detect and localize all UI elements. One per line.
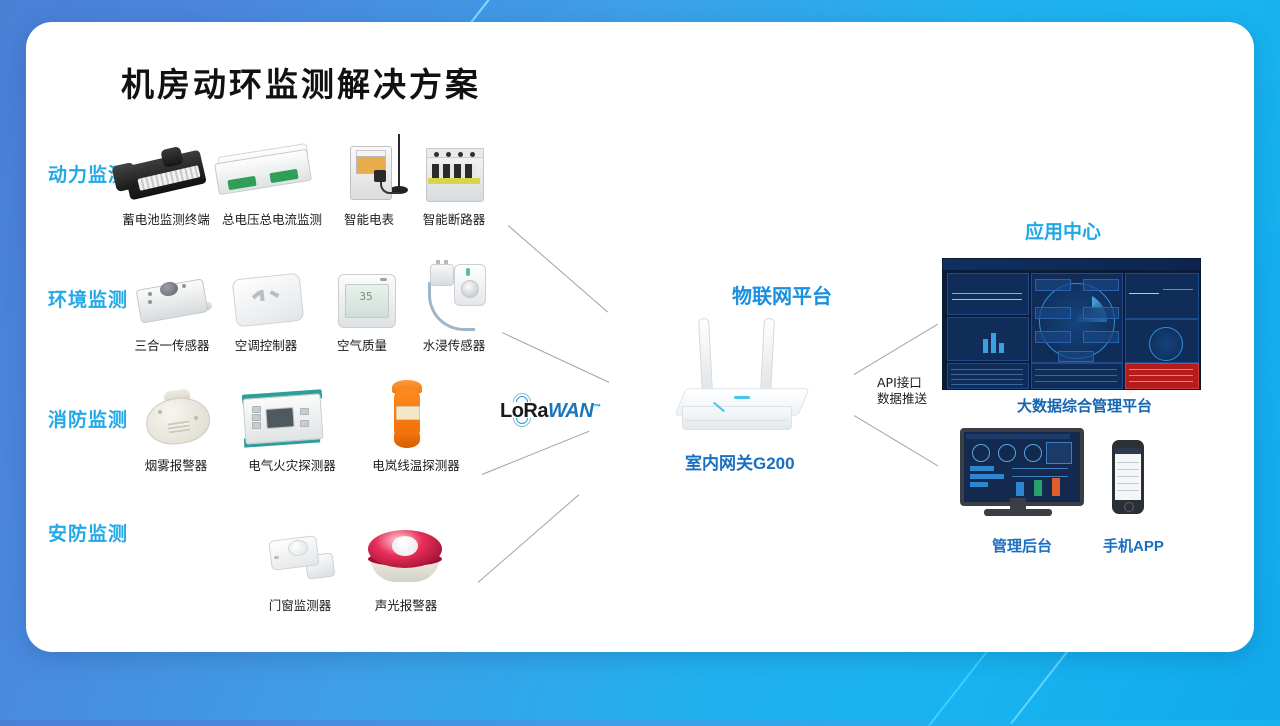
- ac-controller-icon: [218, 262, 314, 338]
- connector-line-security: [478, 494, 580, 583]
- admin-console-caption: 管理后台: [992, 535, 1052, 556]
- smart-breaker-icon: [402, 138, 506, 212]
- device-caption: 蓄电池监测终端: [108, 212, 224, 227]
- smoke-alarm-icon: [124, 382, 228, 458]
- sound-light-alarm-icon: [354, 520, 458, 598]
- device-caption: 三合一传感器: [120, 338, 224, 353]
- device-battery-monitor-terminal[interactable]: 蓄电池监测终端: [108, 138, 224, 227]
- device-caption: 门窗监测器: [248, 598, 352, 613]
- air-quality-value: 35: [352, 290, 380, 303]
- gateway-device-icon: [676, 318, 806, 438]
- device-smart-breaker[interactable]: 智能断路器: [402, 138, 506, 227]
- connector-line-environment: [502, 332, 610, 383]
- smart-meter-icon: [324, 132, 414, 212]
- iot-platform-title: 物联网平台: [732, 280, 832, 309]
- admin-console-monitor-icon[interactable]: [960, 428, 1076, 518]
- three-in-one-sensor-icon: [120, 262, 224, 338]
- device-water-leak-sensor[interactable]: 水浸传感器: [402, 258, 506, 353]
- category-label-environment: 环境监测: [48, 285, 128, 312]
- cable-temperature-detector-icon: [356, 378, 476, 458]
- connector-line-api-dashboard: [854, 324, 939, 376]
- connector-line-api-console: [854, 415, 939, 467]
- device-caption: 智能电表: [324, 212, 414, 227]
- battery-monitor-terminal-icon: [108, 138, 224, 212]
- device-air-quality[interactable]: 35 空气质量: [318, 262, 406, 353]
- device-cable-temperature-detector[interactable]: 电岚线温探测器: [356, 378, 476, 473]
- mobile-app-phone-icon[interactable]: [1112, 440, 1144, 514]
- lorawan-logo: LoRaWAN™: [500, 400, 601, 423]
- device-caption: 声光报警器: [354, 598, 458, 613]
- voltage-current-monitor-icon: [208, 138, 336, 212]
- device-three-in-one-sensor[interactable]: 三合一传感器: [120, 262, 224, 353]
- lorawan-logo-primary: LoRa: [500, 400, 548, 422]
- device-caption: 电气火灾探测器: [230, 458, 354, 473]
- device-caption: 烟雾报警器: [124, 458, 228, 473]
- device-sound-light-alarm[interactable]: 声光报警器: [354, 520, 458, 613]
- connector-line-power: [508, 225, 609, 313]
- big-data-platform-caption: 大数据综合管理平台: [1017, 395, 1152, 416]
- device-smart-meter[interactable]: 智能电表: [324, 132, 414, 227]
- api-label-line-1: API接口: [877, 375, 927, 391]
- decorative-diagonal-line-bottom-2: [1010, 647, 1071, 724]
- device-caption: 空调控制器: [218, 338, 314, 353]
- air-quality-icon: 35: [318, 262, 406, 338]
- device-smoke-alarm[interactable]: 烟雾报警器: [124, 382, 228, 473]
- door-window-sensor-icon: [248, 520, 352, 598]
- solution-card: 机房动环监测解决方案 动力监测 蓄电池监测终端 总电压总电流监测: [26, 22, 1254, 652]
- device-ac-controller[interactable]: 空调控制器: [218, 262, 314, 353]
- lorawan-logo-secondary: WAN: [548, 400, 593, 422]
- api-label-line-2: 数据推送: [877, 391, 927, 407]
- device-caption: 智能断路器: [402, 212, 506, 227]
- category-label-fire: 消防监测: [48, 405, 128, 432]
- device-caption: 总电压总电流监测: [208, 212, 336, 227]
- water-leak-sensor-icon: [402, 258, 506, 338]
- category-label-security: 安防监测: [48, 519, 128, 546]
- page-title: 机房动环监测解决方案: [121, 58, 481, 106]
- gateway-caption: 室内网关G200: [685, 449, 795, 474]
- big-data-dashboard-icon[interactable]: [942, 258, 1201, 390]
- device-caption: 水浸传感器: [402, 338, 506, 353]
- device-caption: 电岚线温探测器: [356, 458, 476, 473]
- device-door-window-sensor[interactable]: 门窗监测器: [248, 520, 352, 613]
- device-voltage-current-monitor[interactable]: 总电压总电流监测: [208, 138, 336, 227]
- connector-line-fire: [482, 431, 590, 476]
- lorawan-trademark: ™: [593, 402, 601, 411]
- device-electrical-fire-detector[interactable]: 电气火灾探测器: [230, 382, 354, 473]
- mobile-app-caption: 手机APP: [1103, 535, 1164, 556]
- application-center-title: 应用中心: [1025, 217, 1101, 244]
- api-push-label: API接口 数据推送: [877, 375, 927, 407]
- electrical-fire-detector-icon: [230, 382, 354, 458]
- device-caption: 空气质量: [318, 338, 406, 353]
